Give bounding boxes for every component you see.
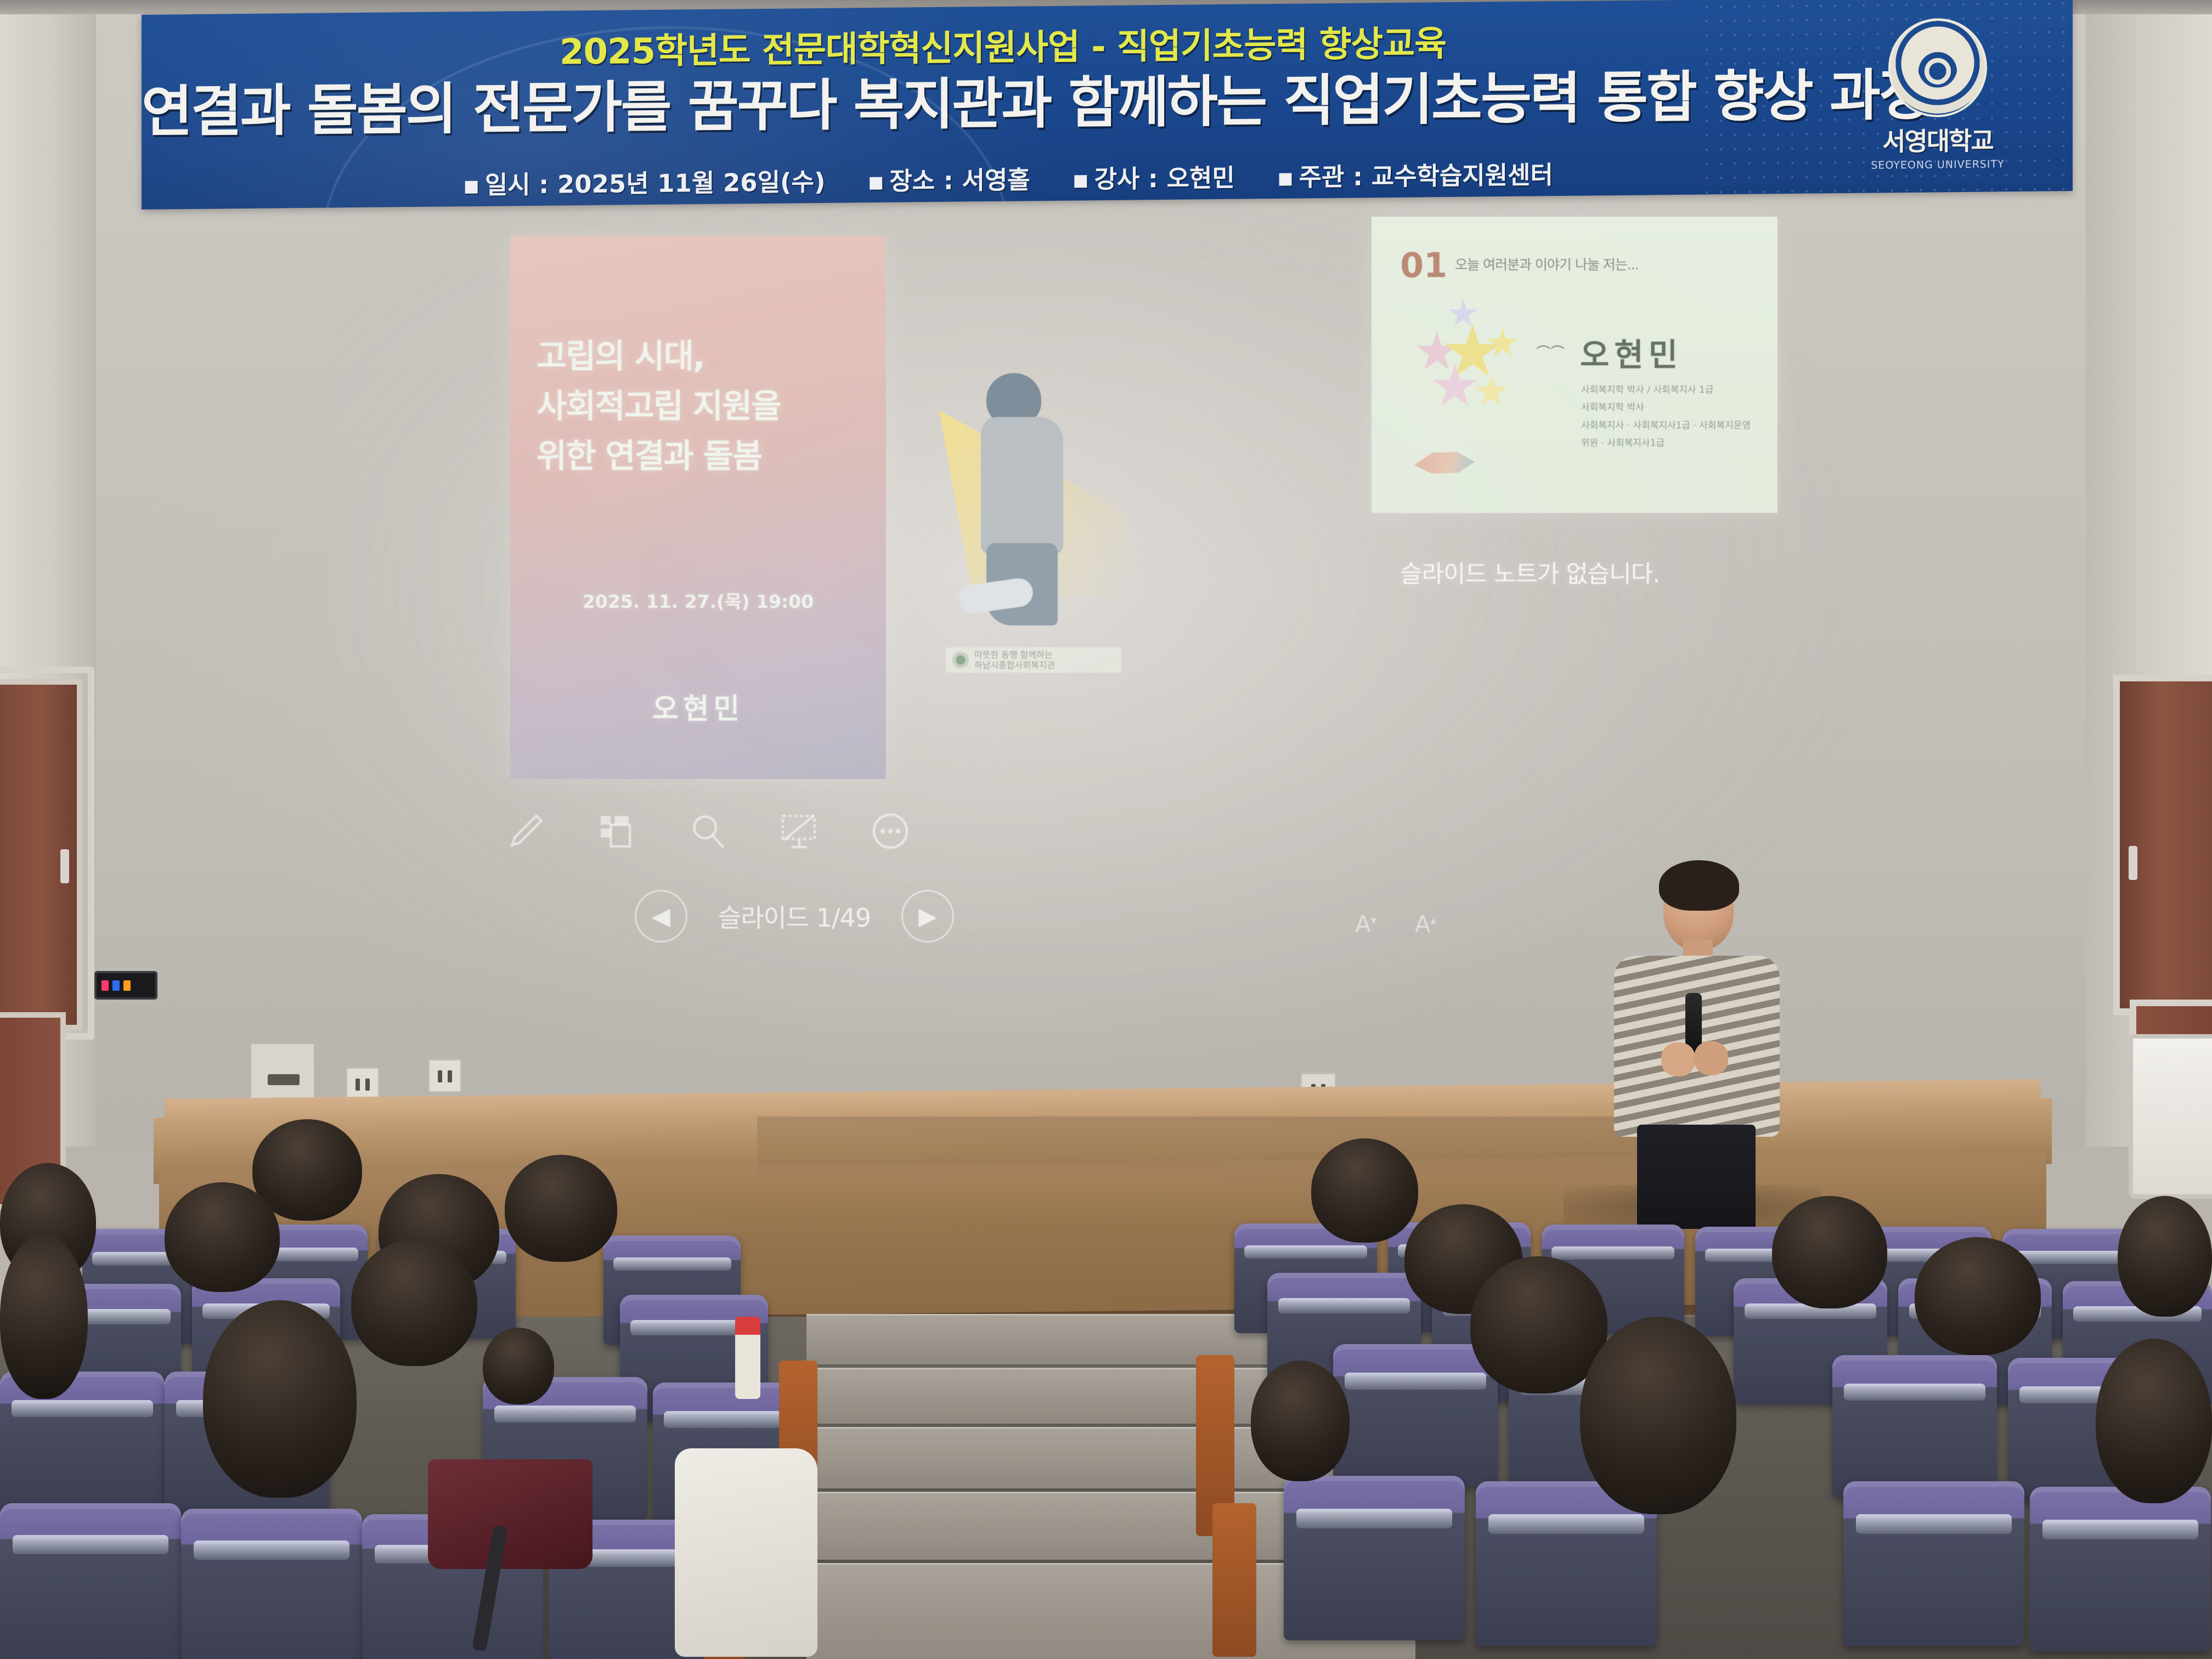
blank-screen-icon[interactable] (779, 810, 820, 853)
banner-meta-lecturer: 강사 : 오현민 (1073, 158, 1235, 195)
seat-armrest (1212, 1503, 1256, 1657)
lecture-hall-photo: 2025학년도 전문대학혁신지원사업 - 직업기초능력 향상교육 연결과 돌봄의… (0, 0, 2212, 1659)
led-indicator-amber (123, 980, 131, 991)
slide-navigation: ◀ 슬라이드 1/49 ▶ (597, 883, 992, 949)
audience-head (203, 1300, 357, 1498)
lecturer-skirt (1637, 1125, 1756, 1229)
seat (2030, 1487, 2211, 1651)
right-door-handle[interactable] (2129, 846, 2137, 880)
welfare-center-tagline: 따뜻한 동행 함께하는 (974, 650, 1055, 660)
banner-meta-date: 일시 : 2025년 11월 26일(수) (464, 162, 825, 201)
slide-date: 2025. 11. 27.(목) 19:00 (510, 587, 886, 613)
more-options-icon[interactable] (870, 810, 911, 853)
banner-meta-host: 주관 : 교수학습지원센터 (1278, 155, 1553, 193)
wall-outlet-left-a[interactable] (346, 1067, 380, 1101)
audience-head (1251, 1361, 1350, 1481)
whiteboard (2129, 1034, 2212, 1199)
av-control-panel[interactable] (94, 971, 157, 1000)
next-slide-number: 01 (1400, 245, 1447, 285)
audience-head (0, 1234, 88, 1399)
next-slide-preview[interactable]: 01 오늘 여러분과 이야기 나눌 저는... ⌒⌒ 오현민 사회복지학 박사 … (1372, 217, 1778, 513)
university-name-ko: 서영대학교 (1855, 121, 2020, 159)
right-door[interactable] (2113, 675, 2212, 1015)
slide-speaker-name: 오현민 (510, 686, 886, 727)
welfare-center-name: 하남시종합사회복지관 (974, 660, 1055, 670)
audience-head (1470, 1256, 1607, 1393)
welfare-center-logo: 따뜻한 동행 함께하는 하남시종합사회복지관 (946, 647, 1121, 673)
wall-junction-box[interactable] (250, 1042, 315, 1100)
led-indicator-blue (112, 980, 120, 991)
stars-illustration-icon (1410, 299, 1531, 425)
zoom-icon[interactable] (688, 810, 729, 853)
slide-notes-placeholder: 슬라이드 노트가 없습니다. (1400, 554, 1817, 589)
university-seal-icon (1888, 18, 1987, 118)
previous-slide-button[interactable]: ◀ (635, 890, 687, 943)
decrease-font-button[interactable]: A▾ (1355, 911, 1376, 938)
credit-line-1: 사회복지학 박사 / 사회복지사 1급 (1581, 381, 1757, 399)
event-banner: 2025학년도 전문대학혁신지원사업 - 직업기초능력 향상교육 연결과 돌봄의… (142, 0, 2073, 210)
slide-illustration: 따뜻한 동행 함께하는 하남시종합사회복지관 (889, 362, 1174, 669)
fish-illustration-icon (1414, 447, 1475, 478)
lecturer-hair (1659, 860, 1739, 911)
audience-head (1311, 1138, 1418, 1243)
lecturer (1591, 867, 1799, 1218)
audience-head (505, 1155, 617, 1262)
banner-meta-place: 장소 : 서영홀 (868, 160, 1030, 197)
pen-icon[interactable] (506, 810, 546, 853)
audience-head (1580, 1317, 1736, 1514)
next-slide-button[interactable]: ▶ (901, 890, 954, 943)
left-door-handle[interactable] (60, 849, 69, 883)
slide-title-line-1: 고립의 시대, (537, 332, 877, 382)
seat (1333, 1344, 1498, 1487)
university-logo: 서영대학교 SEOYEONG UNIVERSITY (1855, 18, 2020, 172)
lecturer-right-hand (1694, 1041, 1728, 1075)
audience-head (165, 1182, 280, 1292)
font-size-controls: A▾ A▴ (1355, 911, 1436, 938)
seat (1843, 1481, 2024, 1646)
seat (1832, 1355, 1997, 1498)
bird-icon: ⌒⌒ (1536, 342, 1565, 362)
slide-counter: 슬라이드 1/49 (718, 898, 871, 934)
seat (1284, 1476, 1465, 1640)
next-slide-heading: 오늘 여러분과 이야기 나눌 저는... (1455, 254, 1639, 274)
audience-head (1772, 1196, 1887, 1308)
increase-font-button[interactable]: A▴ (1415, 911, 1436, 938)
wall-outlet-left-b[interactable] (428, 1059, 462, 1093)
next-slide-speaker-name: 오현민 (1580, 329, 1683, 375)
left-door[interactable] (0, 679, 82, 1030)
layout-icon[interactable] (597, 810, 637, 853)
audience-head (483, 1328, 554, 1404)
stage-floor-shadow (757, 1116, 1723, 1182)
current-slide[interactable]: 고립의 시대, 사회적고립 지원을 위한 연결과 돌봄 2025. 11. 27… (510, 236, 886, 779)
audience-head (351, 1240, 477, 1366)
slide-title-line-2: 사회적고립 지원을 (537, 382, 877, 432)
next-slide-credits: 사회복지학 박사 / 사회복지사 1급 사회복지학 박사 사회복지사 · 사회복… (1581, 381, 1757, 452)
credit-line-3: 사회복지사 · 사회복지사1급 · 사회복지운영위원 · 사회복지사1급 (1581, 417, 1757, 453)
audience-head (2118, 1196, 2212, 1317)
audience-head (1915, 1237, 2041, 1355)
university-name-en: SEOYEONG UNIVERSITY (1855, 158, 2020, 172)
draped-coat (675, 1448, 817, 1657)
lecturer-left-hand (1661, 1042, 1695, 1076)
led-indicator-red (101, 980, 109, 991)
seat (0, 1503, 181, 1659)
kneeling-person-icon (977, 373, 1081, 614)
credit-line-2: 사회복지학 박사 (1581, 399, 1757, 416)
handbag (428, 1459, 592, 1569)
audience-head (2096, 1339, 2212, 1503)
slide-title-line-3: 위한 연결과 돌봄 (537, 432, 877, 482)
seat (181, 1509, 362, 1659)
water-bottle (735, 1317, 760, 1399)
welfare-center-mark-icon (952, 652, 969, 668)
slide-title: 고립의 시대, 사회적고립 지원을 위한 연결과 돌봄 (537, 332, 877, 482)
presenter-toolbar (494, 795, 911, 867)
